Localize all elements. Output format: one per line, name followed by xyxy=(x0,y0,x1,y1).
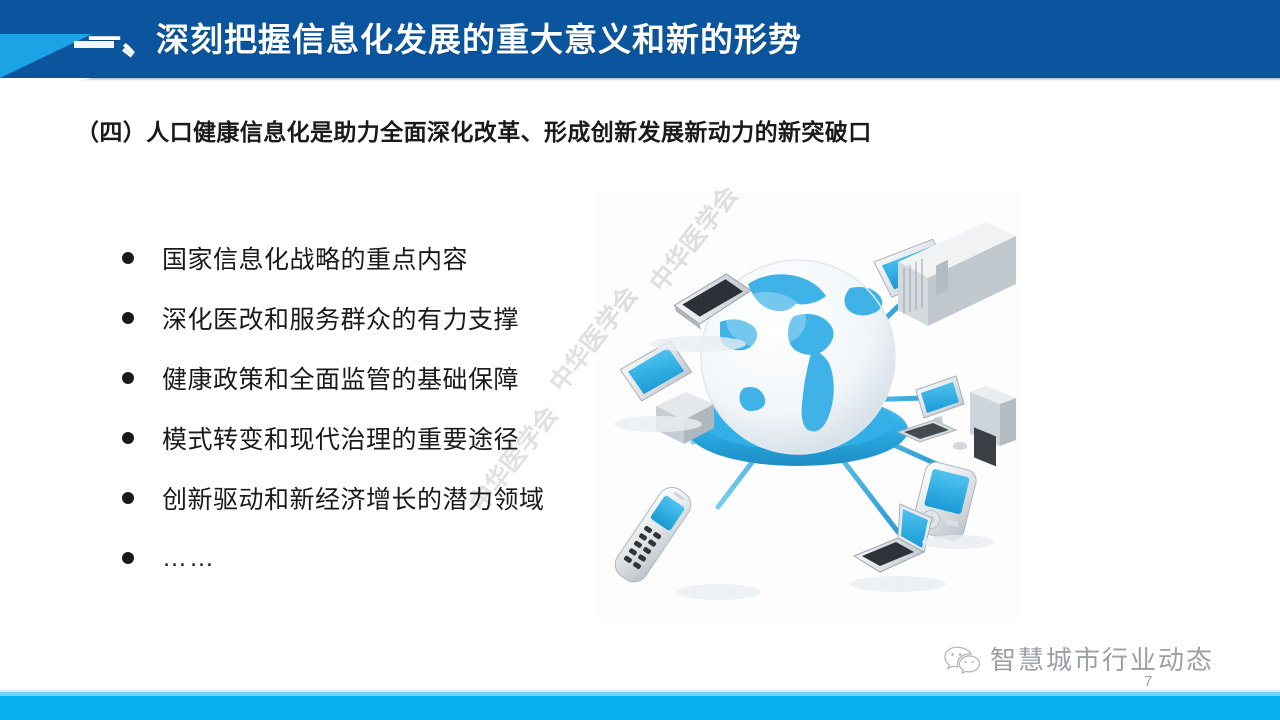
list-item: …… xyxy=(122,528,592,588)
bullet-dot-icon xyxy=(122,432,134,444)
bullet-text: 创新驱动和新经济增长的潜力领域 xyxy=(162,480,545,516)
bullet-list: 国家信息化战略的重点内容 深化医改和服务群众的有力支撑 健康政策和全面监管的基础… xyxy=(122,228,592,588)
brand-name: 智慧城市行业动态 xyxy=(990,640,1214,677)
globe-network-illustration xyxy=(598,192,1018,622)
bullet-text: 模式转变和现代治理的重要途径 xyxy=(162,420,519,456)
bullet-dot-icon xyxy=(122,252,134,264)
brand-watermark: 智慧城市行业动态 xyxy=(944,640,1214,677)
footer-bar xyxy=(0,696,1280,720)
list-item: 深化医改和服务群众的有力支撑 xyxy=(122,288,592,348)
slide-canvas: 一、深刻把握信息化发展的重大意义和新的形势 （四）人口健康信息化是助力全面深化改… xyxy=(0,0,1280,720)
bullet-text: …… xyxy=(162,544,216,573)
wechat-icon xyxy=(944,644,980,674)
bullet-dot-icon xyxy=(122,372,134,384)
bullet-text: 国家信息化战略的重点内容 xyxy=(162,240,468,276)
list-item: 健康政策和全面监管的基础保障 xyxy=(122,348,592,408)
bullet-text: 健康政策和全面监管的基础保障 xyxy=(162,360,519,396)
bullet-dot-icon xyxy=(122,552,134,564)
list-item: 模式转变和现代治理的重要途径 xyxy=(122,408,592,468)
bullet-text: 深化医改和服务群众的有力支撑 xyxy=(162,300,519,336)
header-band-shadow xyxy=(0,78,1280,81)
page-number: 7 xyxy=(1144,673,1152,690)
list-item: 创新驱动和新经济增长的潜力领域 xyxy=(122,468,592,528)
page-title: 一、深刻把握信息化发展的重大意义和新的形势 xyxy=(88,15,802,65)
bullet-dot-icon xyxy=(122,492,134,504)
bullet-dot-icon xyxy=(122,312,134,324)
list-item: 国家信息化战略的重点内容 xyxy=(122,228,592,288)
corner-notch-cutout xyxy=(0,78,92,100)
section-subtitle: （四）人口健康信息化是助力全面深化改革、形成创新发展新动力的新突破口 xyxy=(76,113,872,147)
